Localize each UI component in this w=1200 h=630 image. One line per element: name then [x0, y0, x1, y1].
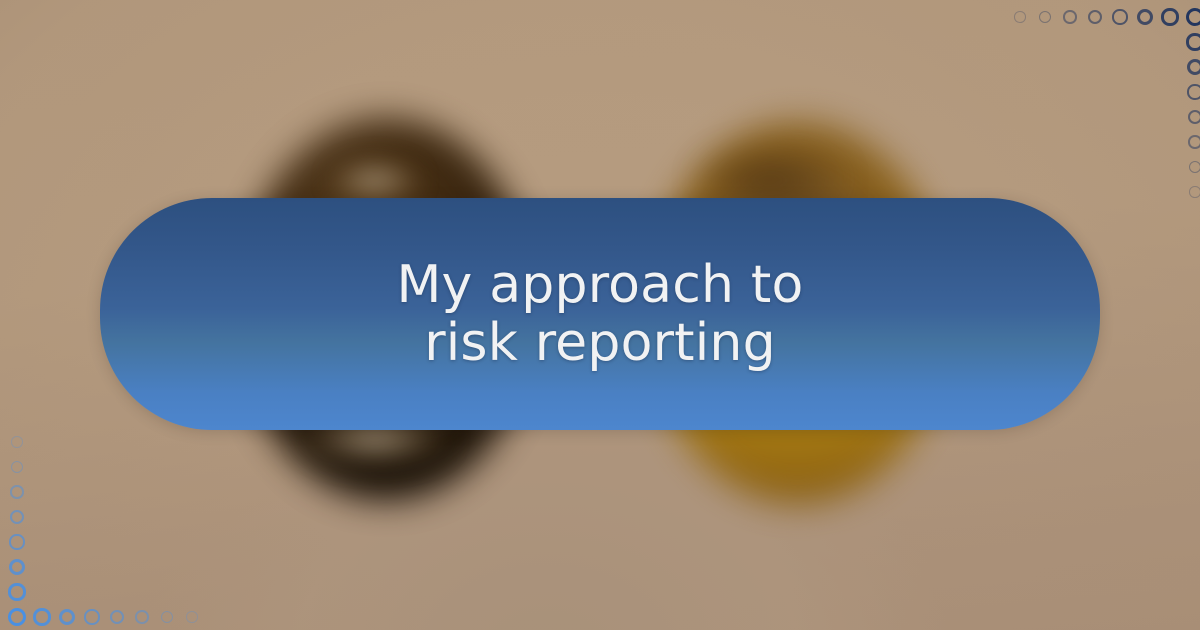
- dark-sphere-highlight-top: [330, 160, 420, 200]
- page-title: My approach to risk reporting: [356, 256, 843, 372]
- poster-canvas: My approach to risk reporting: [0, 0, 1200, 630]
- headline-card: My approach to risk reporting: [100, 198, 1100, 430]
